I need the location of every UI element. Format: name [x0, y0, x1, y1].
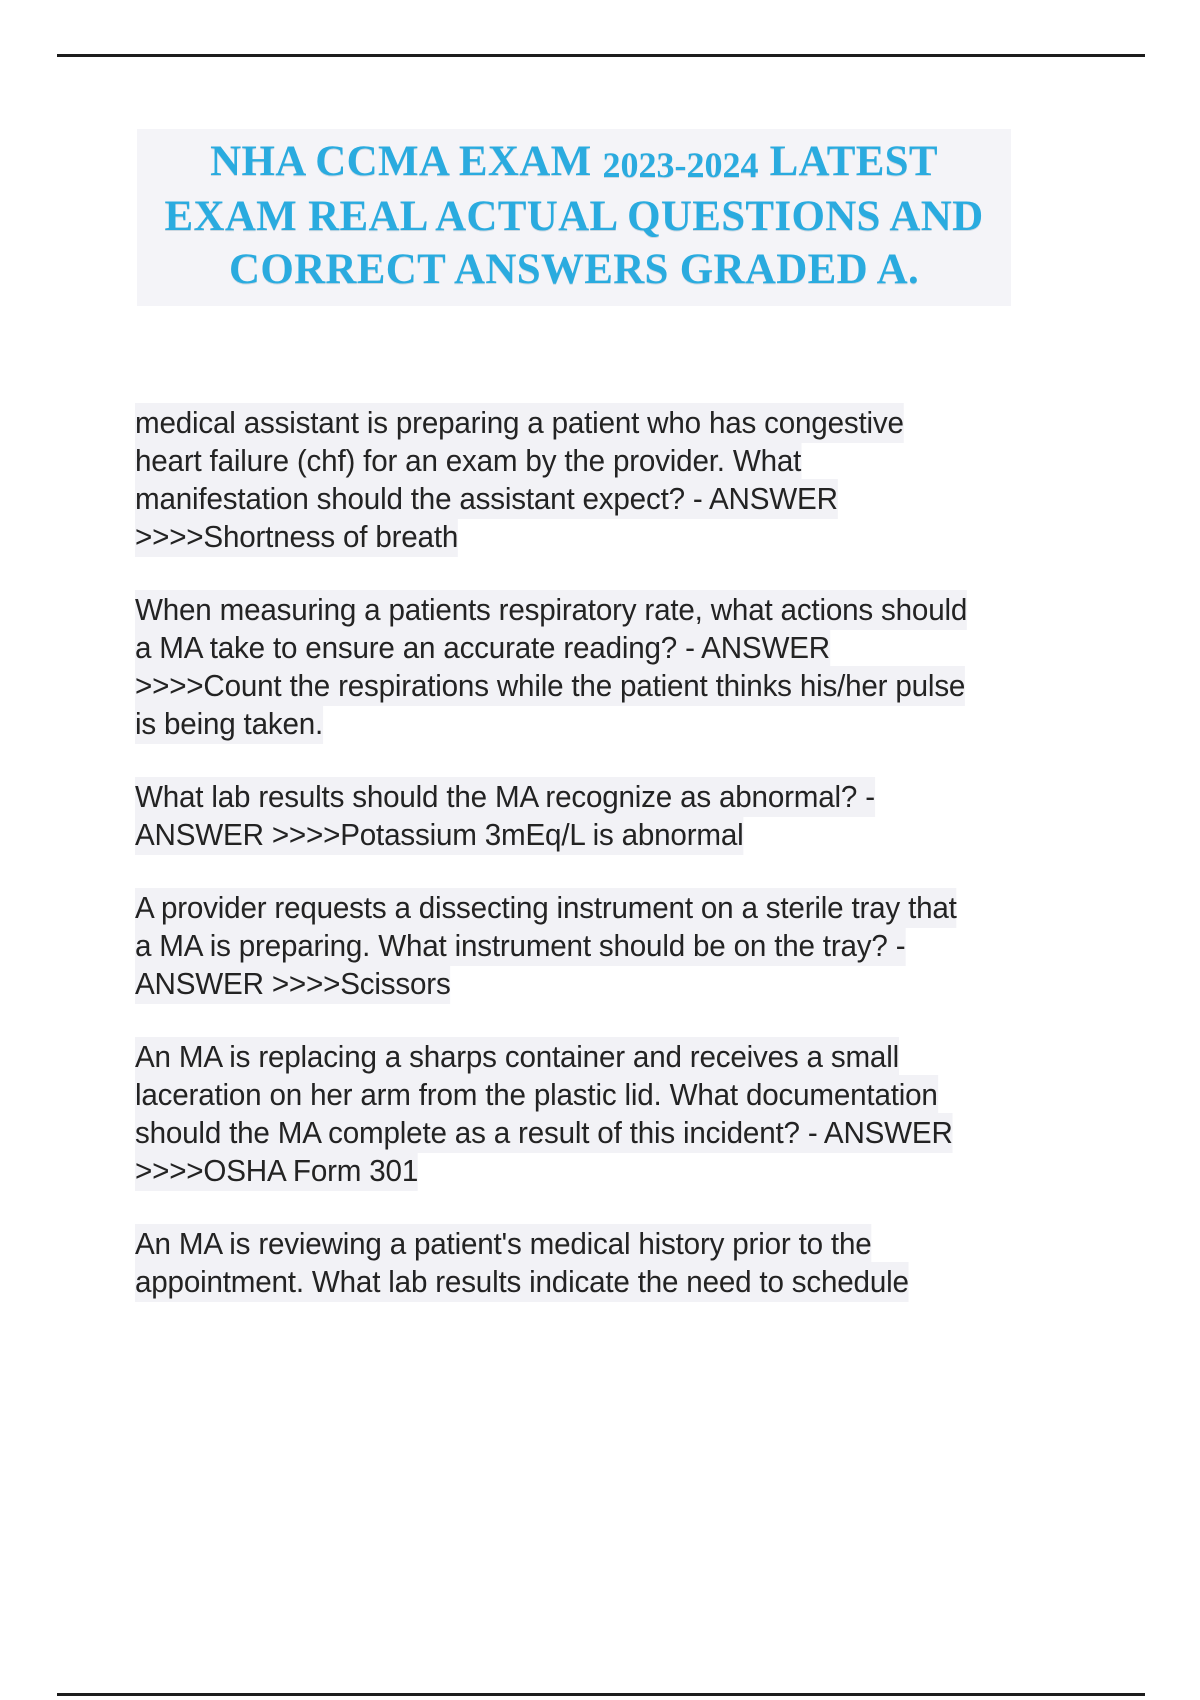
qa-text-5: An MA is replacing a sharps container an…: [135, 1037, 953, 1191]
document-title-block: NHA CCMA EXAM 2023-2024 LATEST EXAM REAL…: [137, 129, 1011, 306]
page-title-line-2: EXAM REAL ACTUAL QUESTIONS AND: [137, 190, 1011, 243]
document-page: NHA CCMA EXAM 2023-2024 LATEST EXAM REAL…: [0, 0, 1200, 1700]
title-text-nha-ccma-exam: NHA CCMA EXAM: [210, 138, 602, 185]
qa-block-4: A provider requests a dissecting instrum…: [135, 889, 977, 1003]
page-title-line-1: NHA CCMA EXAM 2023-2024 LATEST: [137, 135, 1011, 190]
footer-divider-rule: [57, 1693, 1145, 1696]
qa-text-1: medical assistant is preparing a patient…: [135, 403, 904, 557]
qa-text-2: When measuring a patients respiratory ra…: [135, 590, 967, 744]
qa-block-2: When measuring a patients respiratory ra…: [135, 591, 977, 743]
qa-block-3: What lab results should the MA recognize…: [135, 778, 977, 854]
qa-block-5: An MA is replacing a sharps container an…: [135, 1038, 977, 1190]
title-year-range: 2023-2024: [603, 145, 759, 185]
qa-block-6: An MA is reviewing a patient's medical h…: [135, 1225, 977, 1301]
document-body: medical assistant is preparing a patient…: [135, 404, 1017, 1301]
header-divider-rule: [57, 54, 1145, 57]
qa-block-1: medical assistant is preparing a patient…: [135, 404, 977, 556]
page-title-line-3: CORRECT ANSWERS GRADED A.: [137, 243, 1011, 296]
qa-text-6: An MA is reviewing a patient's medical h…: [135, 1224, 909, 1302]
qa-text-4: A provider requests a dissecting instrum…: [135, 888, 957, 1004]
qa-text-3: What lab results should the MA recognize…: [135, 777, 875, 855]
title-text-latest: LATEST: [759, 138, 938, 185]
